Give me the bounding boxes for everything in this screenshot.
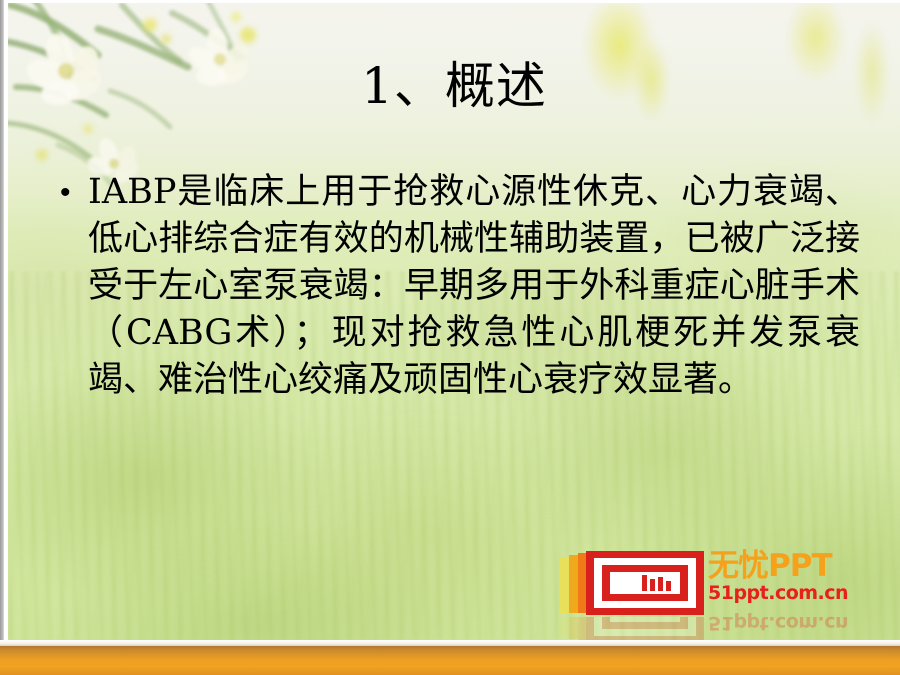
- logo-text-group: 无忧PPT 51ppt.com.cn: [708, 549, 868, 604]
- logo-url-reflection: 51ppt.com.cn: [708, 613, 868, 633]
- slide-canvas: 1、概述 • IABP是临床上用于抢救心源性休克、心力衰竭、低心排综合症有效的机…: [8, 3, 900, 640]
- watermark-logo: 无忧PPT 51ppt.com.cn 51ppt.com.cn: [556, 545, 866, 640]
- bullet-list-item: • IABP是临床上用于抢救心源性休克、心力衰竭、低心排综合症有效的机械性辅助装…: [60, 169, 860, 404]
- presentation-board-icon: [558, 551, 728, 617]
- presentation-board-icon-reflection: [558, 617, 728, 640]
- bottom-accent-band: [0, 646, 900, 675]
- left-frame-rule: [0, 0, 4, 646]
- logo-url: 51ppt.com.cn: [708, 583, 868, 604]
- page-title: 1、概述: [8, 59, 900, 114]
- logo-brand-name: 无忧PPT: [708, 549, 868, 583]
- body-paragraph: IABP是临床上用于抢救心源性休克、心力衰竭、低心排综合症有效的机械性辅助装置，…: [88, 169, 860, 404]
- bullet-marker-icon: •: [60, 169, 88, 216]
- slide-root: 1、概述 • IABP是临床上用于抢救心源性休克、心力衰竭、低心排综合症有效的机…: [0, 0, 900, 675]
